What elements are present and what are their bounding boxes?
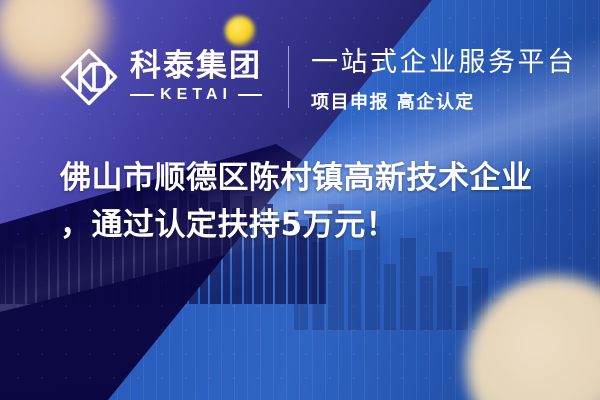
page-title: 佛山市顺德区陈村镇高新技术企业 ，通过认定扶持5万元！ bbox=[60, 155, 560, 248]
promo-banner: 科泰集团 KETAI 一站式企业服务平台 项目申报 高企认定 佛山市顺德区陈村镇… bbox=[0, 0, 600, 400]
tagline-main: 一站式企业服务平台 bbox=[311, 40, 577, 79]
rule-left bbox=[130, 94, 154, 96]
brand-name-en: KETAI bbox=[160, 87, 232, 103]
tagline-block: 一站式企业服务平台 项目申报 高企认定 bbox=[311, 40, 577, 114]
banner-header: 科泰集团 KETAI 一站式企业服务平台 项目申报 高企认定 bbox=[58, 40, 577, 114]
headline-line-2: ，通过认定扶持5万元！ bbox=[60, 202, 560, 249]
brand-name-cn: 科泰集团 bbox=[130, 51, 262, 82]
brand-wordmark: 科泰集团 KETAI bbox=[130, 51, 262, 103]
ketai-kd-monogram-icon bbox=[58, 46, 120, 108]
vertical-divider bbox=[288, 46, 289, 108]
headline-line-1: 佛山市顺德区陈村镇高新技术企业 bbox=[60, 155, 560, 202]
rule-right bbox=[238, 94, 262, 96]
tagline-sub: 项目申报 高企认定 bbox=[311, 88, 577, 114]
brand-name-en-row: KETAI bbox=[130, 87, 262, 103]
